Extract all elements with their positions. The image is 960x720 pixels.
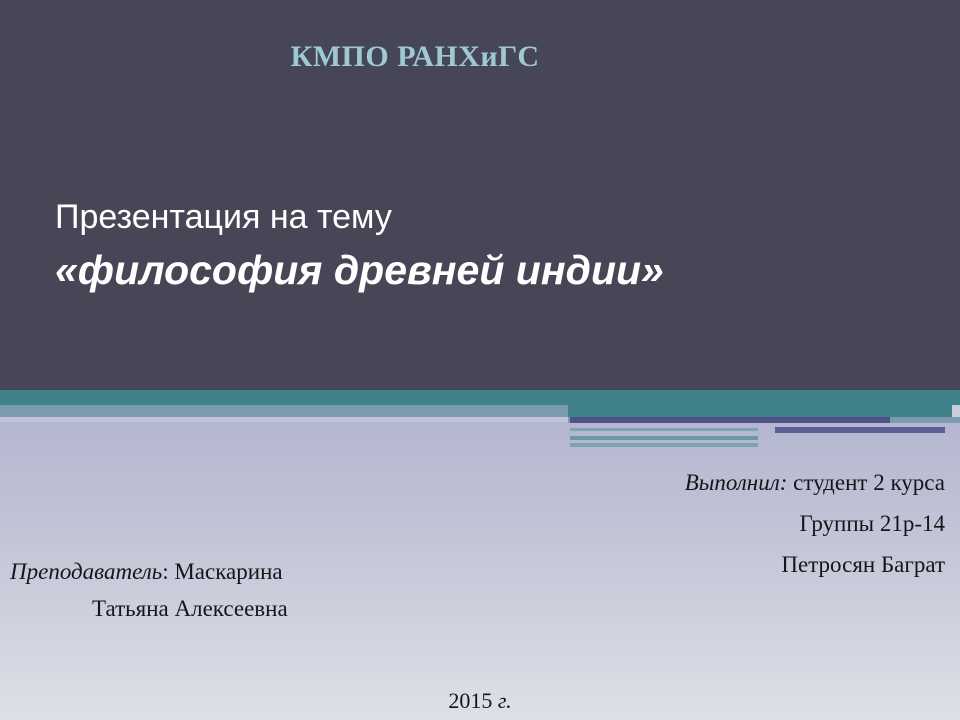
teal-band-edge bbox=[952, 390, 960, 405]
slate-band-left bbox=[0, 405, 568, 417]
lilac-band-left bbox=[0, 417, 568, 422]
year-value: 2015 bbox=[448, 688, 498, 713]
year-block: 2015 г. bbox=[0, 688, 960, 714]
teal-band-left bbox=[0, 390, 568, 405]
year-suffix: г. bbox=[498, 688, 512, 713]
author-line-group: Группы 21р-14 bbox=[445, 503, 945, 544]
teacher-line-2: Татьяна Алексеевна bbox=[10, 590, 480, 627]
decorative-rule-dark-lower bbox=[775, 427, 945, 433]
teacher-line-1: Преподаватель: Маскарина bbox=[10, 553, 480, 590]
author-line-name: Петросян Баграт bbox=[445, 544, 945, 585]
decorative-rule-teal-3 bbox=[570, 443, 758, 447]
author-label: Выполнил bbox=[685, 470, 780, 495]
teacher-surname: Маскарина bbox=[169, 559, 283, 584]
title-subtitle-line: Презентация на тему bbox=[55, 196, 885, 238]
decorative-rule-teal-2 bbox=[570, 436, 758, 440]
teacher-block: Преподаватель: Маскарина Татьяна Алексее… bbox=[10, 553, 480, 627]
teacher-label: Преподаватель bbox=[10, 559, 162, 584]
title-main-line: «философия древней индии» bbox=[55, 244, 885, 296]
author-block: Выполнил: студент 2 курса Группы 21р-14 … bbox=[445, 462, 945, 585]
author-role-text: студент 2 курса bbox=[787, 470, 945, 495]
author-line-role: Выполнил: студент 2 курса bbox=[445, 462, 945, 503]
presentation-slide: КМПО РАНХиГС Презентация на тему «филосо… bbox=[0, 0, 960, 720]
teal-band-right bbox=[568, 390, 952, 417]
organization-heading: КМПО РАНХиГС bbox=[0, 40, 830, 74]
decorative-rule-dark-upper bbox=[570, 417, 890, 423]
title-block: Презентация на тему «философия древней и… bbox=[55, 196, 885, 296]
decorative-rule-teal-1 bbox=[570, 428, 758, 431]
